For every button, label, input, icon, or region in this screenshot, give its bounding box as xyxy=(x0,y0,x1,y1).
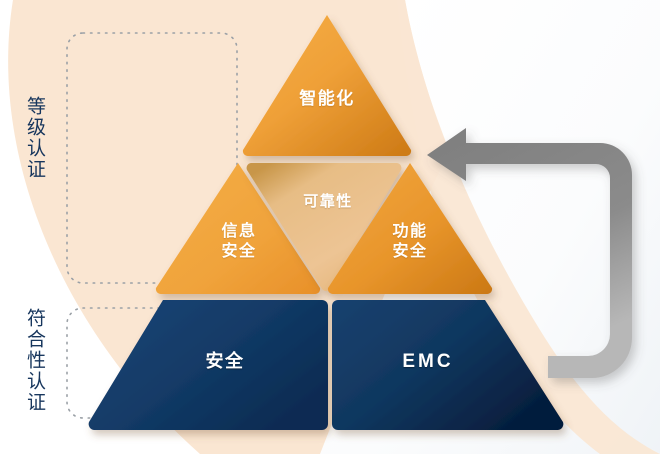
block-label-information-security: 信息 安全 xyxy=(200,222,278,263)
diagram-canvas: 等级认证 符合性认证 xyxy=(0,0,660,454)
pyramid-shapes xyxy=(0,0,660,454)
block-smart[interactable] xyxy=(243,15,411,156)
block-label-emc: EMC xyxy=(373,350,483,374)
block-label-smart: 智能化 xyxy=(277,88,377,110)
block-label-functional-safety: 功能 安全 xyxy=(371,222,449,263)
block-label-safety: 安全 xyxy=(170,350,280,373)
block-label-reliability: 可靠性 xyxy=(283,192,373,211)
